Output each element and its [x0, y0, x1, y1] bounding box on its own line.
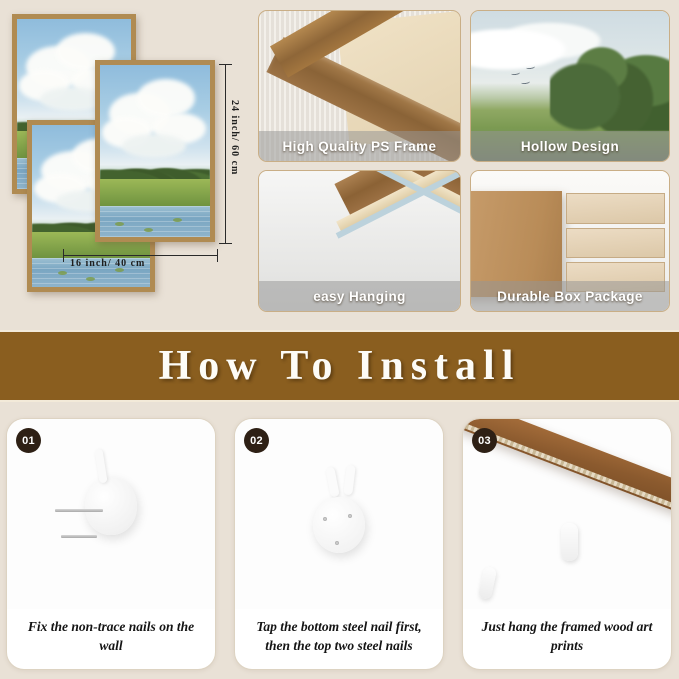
- step-number-badge: 03: [472, 428, 497, 453]
- feature-card-box-package: Durable Box Package: [470, 170, 670, 312]
- step-number-badge: 01: [16, 428, 41, 453]
- print-artwork: [100, 65, 210, 237]
- step-instruction: Just hang the framed wood art prints: [471, 617, 663, 655]
- feature-card-easy-hanging: easy Hanging: [258, 170, 461, 312]
- height-dimension-line: [225, 64, 226, 244]
- height-cap-bottom: [219, 243, 232, 244]
- feature-card-ps-frame: High Quality PS Frame: [258, 10, 461, 162]
- feature-caption: easy Hanging: [259, 281, 460, 311]
- step-number-badge: 02: [244, 428, 269, 453]
- step-card-03: 03 Just hang the framed wood art prints: [462, 418, 672, 670]
- step-card-01: 01 Fix the non-trace nails on the wall: [6, 418, 216, 670]
- width-dimension-line: [63, 255, 218, 256]
- step-card-02: 02 Tap the bottom steel nail first, then…: [234, 418, 444, 670]
- width-cap-right: [217, 249, 218, 262]
- how-to-install-banner: How To Install: [0, 330, 679, 402]
- banner-title: How To Install: [159, 342, 521, 390]
- step-instruction: Tap the bottom steel nail first, then th…: [243, 617, 435, 655]
- width-dimension-label: 16 inch/ 40 cm: [70, 258, 145, 269]
- feature-caption: Durable Box Package: [471, 281, 669, 311]
- framed-prints-group: 24 inch/ 60 cm 16 inch/ 40 cm: [0, 0, 250, 320]
- feature-caption: Hollow Design: [471, 131, 669, 161]
- framed-print-main: [95, 60, 215, 242]
- installation-steps-section: 01 Fix the non-trace nails on the wall 0…: [0, 410, 679, 679]
- step-instruction: Fix the non-trace nails on the wall: [15, 617, 207, 655]
- product-overview-section: 24 inch/ 60 cm 16 inch/ 40 cm High Quali…: [0, 0, 679, 320]
- width-cap-left: [63, 249, 64, 262]
- height-dimension-label: 24 inch/ 60 cm: [229, 100, 240, 175]
- feature-card-hollow-design: Hollow Design: [470, 10, 670, 162]
- height-cap-top: [219, 64, 232, 65]
- feature-caption: High Quality PS Frame: [259, 131, 460, 161]
- landscape-painting-icon: [100, 65, 210, 237]
